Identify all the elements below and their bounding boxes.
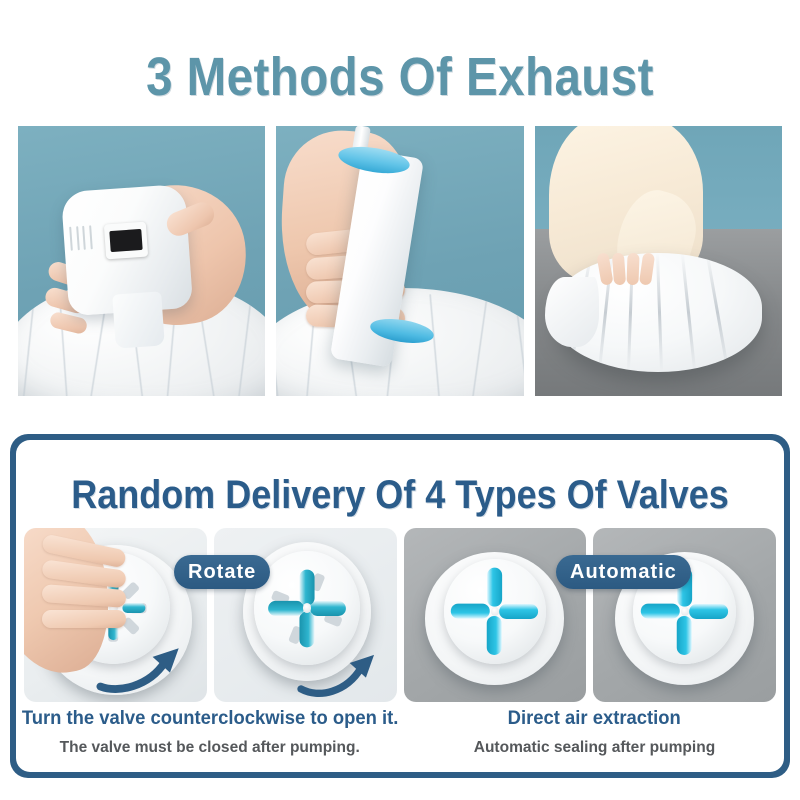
power-switch	[103, 222, 147, 260]
caption-rotate-secondary: The valve must be closed after pumping.	[60, 739, 360, 757]
valve-hub	[491, 607, 499, 615]
caption-rotate-primary: Turn the valve counterclockwise to open …	[22, 708, 399, 730]
valve-hub	[303, 603, 311, 612]
valve-cap	[254, 551, 360, 666]
hand-rolling-bag-photo	[535, 126, 782, 396]
valve-section-card: Random Delivery Of 4 Types Of Valves	[16, 440, 784, 772]
valve-cap	[444, 559, 546, 663]
pump-vent-icon	[69, 225, 93, 251]
product-infographic-page: 3 Methods Of Exhaust	[0, 0, 800, 800]
page-title: 3 Methods Of Exhaust	[48, 46, 752, 108]
valve-hub	[681, 607, 689, 615]
caption-automatic-primary: Direct air extraction	[508, 708, 681, 730]
rotate-badge: Rotate	[174, 555, 270, 589]
automatic-badge: Automatic	[556, 555, 691, 589]
manual-hand-pump-photo	[276, 126, 523, 396]
valve-captions: Turn the valve counterclockwise to open …	[16, 708, 784, 772]
valve-section-frame: Random Delivery Of 4 Types Of Valves	[10, 434, 790, 778]
caption-automatic-secondary: Automatic sealing after pumping	[473, 739, 714, 757]
caption-group-automatic: Direct air extraction Automatic sealing …	[404, 708, 784, 772]
rotate-arrow-icon	[291, 650, 382, 699]
caption-group-rotate: Turn the valve counterclockwise to open …	[16, 708, 404, 772]
fingers	[42, 542, 126, 629]
valve-section-title: Random Delivery Of 4 Types Of Valves	[54, 472, 745, 518]
valve-automatic-1	[404, 528, 587, 702]
hands-pressing	[599, 253, 653, 285]
rotate-arrow-icon	[93, 643, 184, 695]
methods-photo-row	[18, 126, 782, 396]
pump-nozzle	[113, 292, 166, 349]
bag-fold-tail	[545, 277, 599, 347]
electric-pump-photo	[18, 126, 265, 396]
valve-rotate-closed	[24, 528, 207, 702]
